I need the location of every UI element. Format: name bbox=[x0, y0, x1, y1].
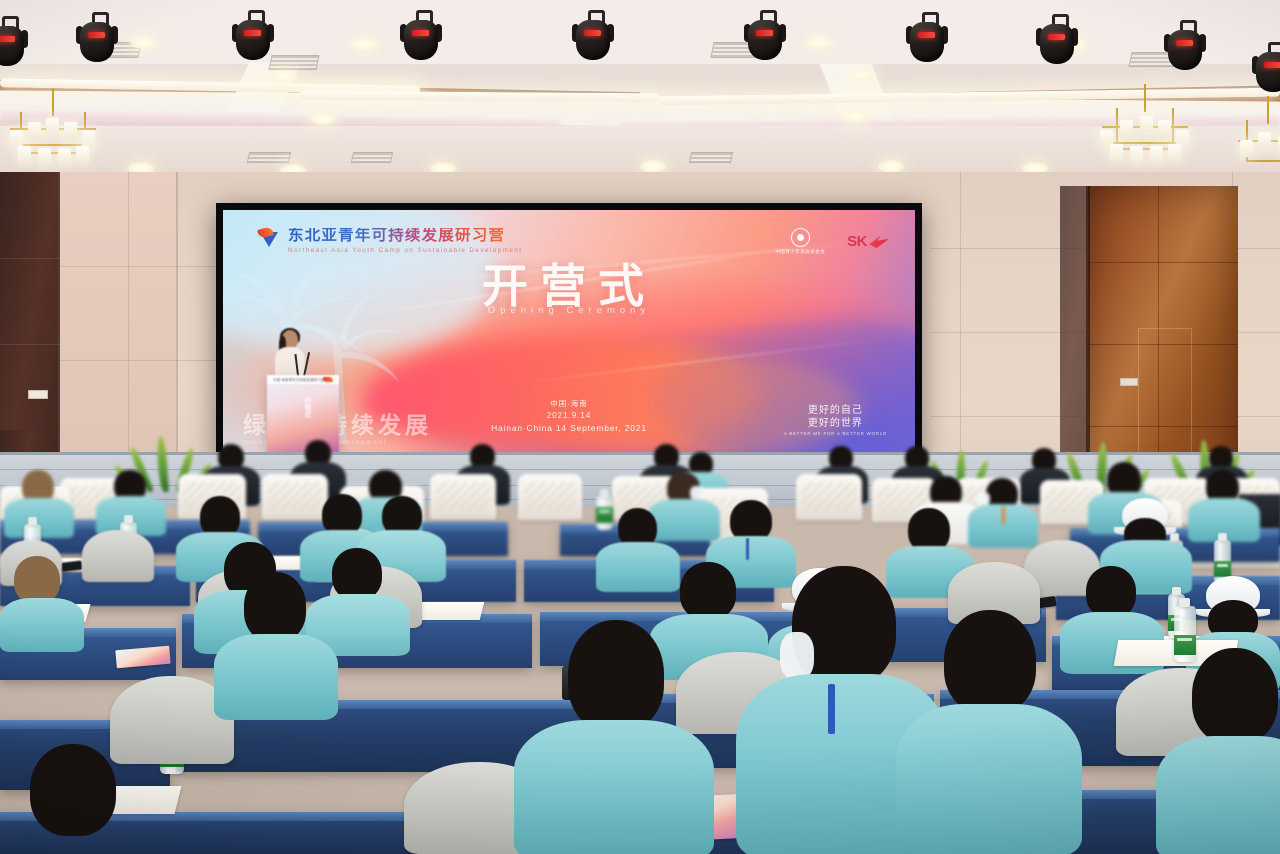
foundation-logo: 中国青少年发展基金会 bbox=[775, 228, 825, 255]
recessed-downlight bbox=[806, 36, 832, 49]
slogan-line-en: A BETTER ME FOR A BETTER WORLD bbox=[784, 431, 887, 436]
wall-switch[interactable] bbox=[28, 390, 48, 399]
recessed-downlight bbox=[130, 36, 156, 49]
partner-logos: 中国青少年发展基金会 SK bbox=[775, 228, 889, 255]
attendee-person bbox=[968, 478, 1038, 540]
attendee-person bbox=[4, 470, 74, 530]
podium-top-label: 中国·海南青年可持续发展研习营 bbox=[273, 377, 325, 382]
foundation-logo-label: 中国青少年发展基金会 bbox=[775, 249, 825, 255]
stage-spotlight bbox=[236, 10, 270, 62]
gold-chandelier bbox=[1238, 96, 1280, 166]
lanyard bbox=[828, 684, 835, 734]
attendee-person bbox=[214, 572, 338, 710]
screen-slogan: 更好的自己 更好的世界 A BETTER ME FOR A BETTER WOR… bbox=[784, 404, 887, 436]
recessed-downlight bbox=[352, 38, 378, 51]
gold-chandelier bbox=[8, 88, 98, 168]
lanyard bbox=[746, 538, 749, 560]
recessed-downlight bbox=[272, 70, 298, 83]
v-check-logo-icon bbox=[259, 228, 281, 248]
recessed-downlight bbox=[842, 110, 868, 123]
stage-spotlight bbox=[748, 10, 782, 62]
attendee-person bbox=[514, 620, 714, 854]
stage-spotlight bbox=[1256, 42, 1280, 94]
covered-chair bbox=[796, 474, 862, 520]
attendee-person bbox=[0, 744, 150, 854]
ceiling bbox=[0, 0, 1280, 176]
podium-logo-icon bbox=[323, 377, 333, 382]
conference-hall-photo: 东北亚青年可持续发展研习营 Northeast Asia Youth Camp … bbox=[0, 0, 1280, 854]
door-switch[interactable] bbox=[1120, 378, 1138, 386]
stage-spotlight bbox=[910, 12, 944, 64]
ceiling-air-vent bbox=[268, 55, 319, 70]
ceiling-air-vent bbox=[689, 152, 733, 163]
recessed-downlight bbox=[310, 112, 336, 125]
screen-header-cn: 东北亚青年可持续发展研习营 bbox=[288, 228, 522, 244]
sk-wing-icon bbox=[869, 235, 889, 248]
screen-location-cn: 中国·海南 bbox=[491, 399, 647, 410]
screen-event-meta: 中国·海南 2021.9.14 Hainan·China 14 Septembe… bbox=[491, 399, 647, 434]
attendee-person bbox=[896, 610, 1082, 854]
sk-logo: SK bbox=[847, 233, 889, 250]
screen-date-cn: 2021.9.14 bbox=[491, 410, 647, 422]
slogan-line-1: 更好的自己 bbox=[784, 404, 887, 417]
slogan-line-2: 更好的世界 bbox=[784, 417, 887, 430]
sk-logo-label: SK bbox=[847, 233, 867, 250]
attendee-person bbox=[1188, 470, 1260, 532]
screen-title-en: Opening Ceremony bbox=[488, 305, 650, 316]
podium-vertical-label: 开营式 bbox=[297, 397, 311, 418]
gold-chandelier bbox=[1096, 84, 1194, 168]
stage-spotlight bbox=[1168, 20, 1202, 72]
recessed-downlight bbox=[848, 68, 874, 81]
stage-spotlight bbox=[1040, 14, 1074, 66]
stage-spotlight bbox=[0, 16, 24, 68]
attendee-person bbox=[0, 556, 84, 638]
face-mask bbox=[780, 632, 814, 680]
ceiling-air-vent bbox=[351, 152, 393, 163]
covered-chair bbox=[518, 474, 582, 520]
screen-location-date-en: Hainan·China 14 September, 2021 bbox=[491, 422, 647, 434]
circle-emblem-icon bbox=[791, 228, 810, 247]
ceiling-air-vent bbox=[247, 152, 291, 163]
stage-spotlight bbox=[80, 12, 114, 64]
attendee-person bbox=[1156, 648, 1280, 854]
stage-spotlight bbox=[404, 10, 438, 62]
stage-spotlight bbox=[576, 10, 610, 62]
chair bbox=[82, 530, 154, 582]
